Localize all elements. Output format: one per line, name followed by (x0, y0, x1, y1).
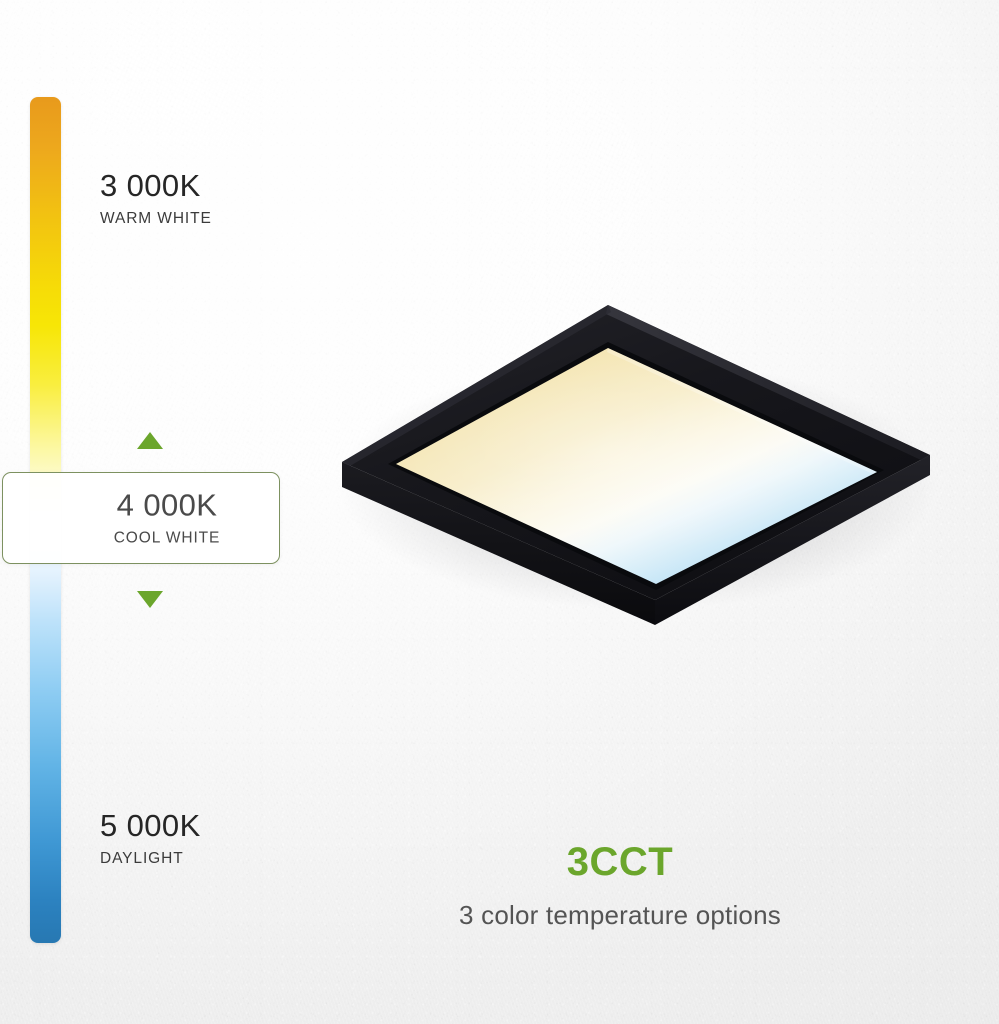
led-panel-product-image (320, 270, 960, 630)
caption-subline: 3 color temperature options (300, 900, 940, 931)
cool-white-mode-label: COOL WHITE (55, 529, 279, 546)
cool-white-kelvin-value: 4 000K (55, 490, 279, 523)
scale-label-daylight: 5 000K DAYLIGHT (100, 810, 201, 867)
daylight-kelvin-value: 5 000K (100, 810, 201, 843)
triangle-up-icon[interactable] (137, 432, 163, 449)
caption-block: 3CCT 3 color temperature options (300, 840, 940, 931)
led-panel-illustration (320, 270, 960, 630)
triangle-down-icon[interactable] (137, 591, 163, 608)
warm-white-kelvin-value: 3 000K (100, 170, 212, 203)
daylight-mode-label: DAYLIGHT (100, 850, 201, 867)
infographic-canvas: 3 000K WARM WHITE 4 000K COOL WHITE 5 00… (0, 0, 999, 1024)
caption-headline: 3CCT (300, 840, 940, 884)
scale-label-warm-white: 3 000K WARM WHITE (100, 170, 212, 227)
selected-temperature-callout[interactable]: 4 000K COOL WHITE (2, 472, 280, 564)
callout-content: 4 000K COOL WHITE (3, 490, 279, 547)
warm-white-mode-label: WARM WHITE (100, 210, 212, 227)
